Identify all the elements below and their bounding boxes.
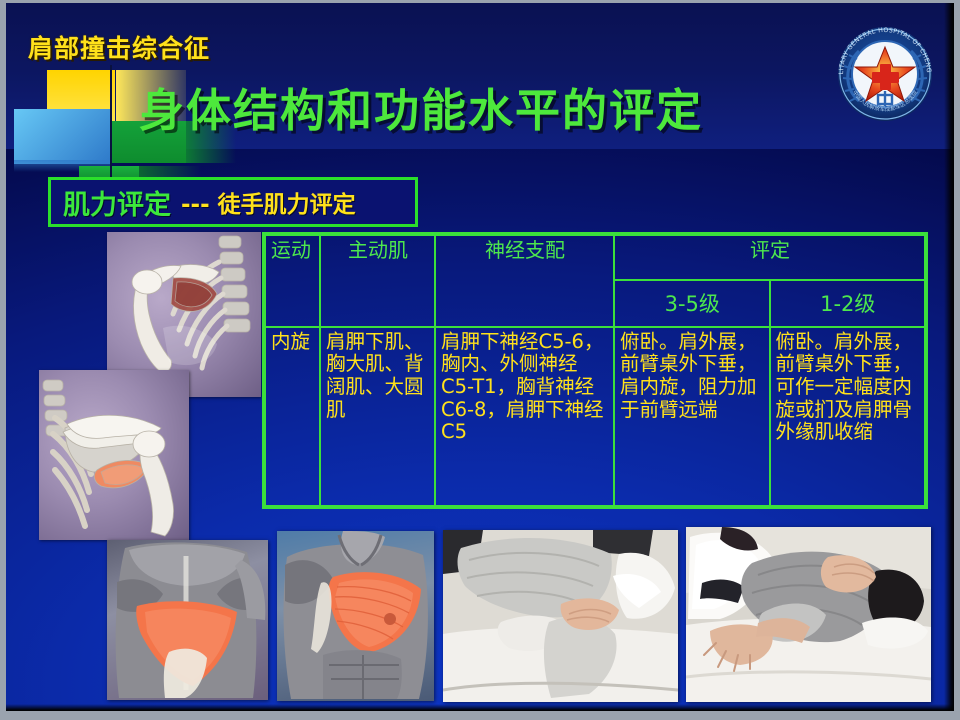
cell-motion: 内旋 (265, 327, 320, 506)
photo-latissimus-dorsi (107, 540, 268, 700)
cell-grade-low: 俯卧。肩外展，前臂桌外下垂，可作一定幅度内旋或扪及肩胛骨外缘肌收缩 (770, 327, 926, 506)
table-row: 内旋 肩胛下肌、胸大肌、背阔肌、大圆肌 肩胛下神经C5-6，胸内、外侧神经C5-… (265, 327, 925, 506)
slide-bottom-shadow (6, 704, 954, 711)
th-motion: 运动 (265, 235, 320, 327)
muscle-test-table: 运动 主动肌 神经支配 评定 3-5级 1-2级 内旋 肩胛下肌、胸大肌、背阔肌… (262, 232, 928, 509)
photo-therapist-internal-rotation-test (686, 527, 931, 702)
slide-root: 肩部撞击综合征 身体结构和功能水平的评定 (0, 0, 960, 720)
cell-prime-mover: 肩胛下肌、胸大肌、背阔肌、大圆肌 (320, 327, 435, 506)
hospital-logo: THE MILITARY GENERAL HOSPITAL OF CHENGDU… (826, 17, 944, 129)
th-grade-high: 3-5级 (614, 280, 770, 327)
slide-kicker: 肩部撞击综合征 (28, 29, 210, 65)
section-label-secondary: --- 徒手肌力评定 (171, 185, 356, 219)
cell-innervation: 肩胛下神经C5-6，胸内、外侧神经C5-T1，胸背神经C6-8，肩胛下神经C5 (435, 327, 614, 506)
photo-pectoralis-major (277, 531, 434, 701)
th-grade-low: 1-2级 (770, 280, 926, 327)
photo-prone-shoulder-test-closeup (443, 530, 678, 702)
th-assessment: 评定 (614, 235, 925, 280)
page-title: 身体结构和功能水平的评定 (139, 74, 703, 139)
th-innervation: 神经支配 (435, 235, 614, 327)
deco-blue-square (14, 109, 110, 164)
th-prime-mover: 主动肌 (320, 235, 435, 327)
section-label-box: 肌力评定 --- 徒手肌力评定 (48, 177, 418, 227)
cell-grade-high: 俯卧。肩外展，前臂桌外下垂，肩内旋，阻力加于前臂远端 (614, 327, 770, 506)
section-label-primary: 肌力评定 (51, 183, 171, 222)
slide-right-shadow (944, 3, 954, 711)
table-header-row: 运动 主动肌 神经支配 评定 (265, 235, 925, 280)
deco-vertical-rule (110, 65, 112, 193)
anatomy-image-scapula-teres (39, 370, 189, 540)
slide-canvas: 肩部撞击综合征 身体结构和功能水平的评定 (6, 3, 954, 711)
